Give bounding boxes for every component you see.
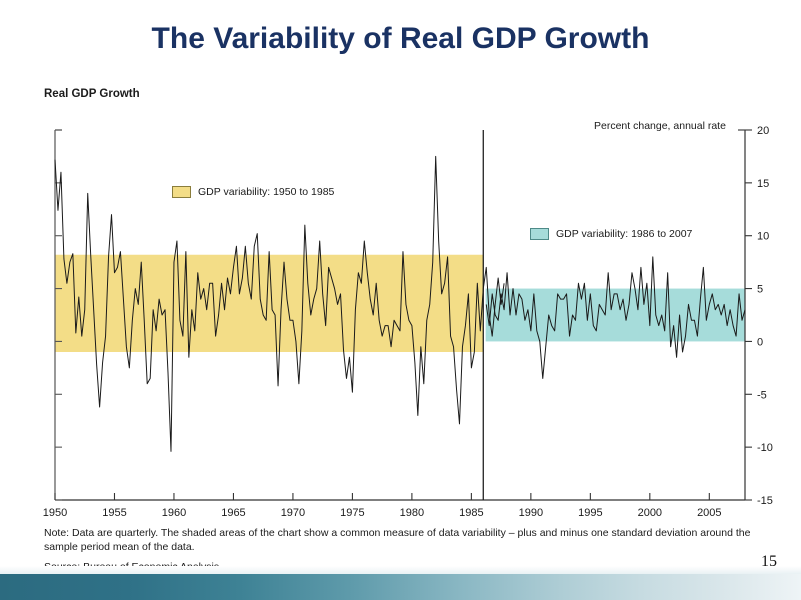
gdp-growth-chart: -15-10-505101520195019551960196519701975… bbox=[0, 105, 801, 525]
legend-label-1986-2007: GDP variability: 1986 to 2007 bbox=[556, 228, 692, 240]
legend-item-1950-1985: GDP variability: 1950 to 1985 bbox=[172, 186, 334, 198]
y-axis-tick-label: 20 bbox=[757, 125, 769, 137]
x-axis-tick-label: 1995 bbox=[578, 507, 602, 519]
y-axis-tick-label: 10 bbox=[757, 231, 769, 243]
chart-note: Note: Data are quarterly. The shaded are… bbox=[44, 527, 764, 555]
legend-item-1986-2007: GDP variability: 1986 to 2007 bbox=[530, 228, 692, 240]
x-axis-tick-label: 1965 bbox=[221, 507, 245, 519]
x-axis-tick-label: 1975 bbox=[340, 507, 364, 519]
x-axis-tick-label: 1950 bbox=[43, 507, 67, 519]
slide: The Variability of Real GDP Growth Real … bbox=[0, 0, 801, 600]
x-axis-tick-label: 1990 bbox=[519, 507, 543, 519]
chart-svg: -15-10-505101520195019551960196519701975… bbox=[0, 105, 801, 525]
legend-swatch-yellow bbox=[172, 186, 191, 198]
variability-band-1 bbox=[55, 255, 483, 352]
y-axis-tick-label: 0 bbox=[757, 336, 763, 348]
x-axis-tick-label: 1970 bbox=[281, 507, 305, 519]
footer-decoration-bar bbox=[0, 574, 801, 600]
y-axis-tick-label: -5 bbox=[757, 389, 767, 401]
y-axis-tick-label: 15 bbox=[757, 178, 769, 190]
chart-subtitle: Real GDP Growth bbox=[44, 88, 140, 100]
x-axis-tick-label: 1985 bbox=[459, 507, 483, 519]
footer-bar-highlight bbox=[0, 566, 801, 574]
x-axis-tick-label: 2000 bbox=[638, 507, 662, 519]
page-title: The Variability of Real GDP Growth bbox=[0, 22, 801, 56]
y-axis-tick-label: -15 bbox=[757, 495, 773, 507]
x-axis-tick-label: 1980 bbox=[400, 507, 424, 519]
legend-label-1950-1985: GDP variability: 1950 to 1985 bbox=[198, 186, 334, 198]
x-axis-tick-label: 2005 bbox=[697, 507, 721, 519]
legend-swatch-cyan bbox=[530, 228, 549, 240]
y-axis-tick-label: -10 bbox=[757, 442, 773, 454]
x-axis-tick-label: 1955 bbox=[102, 507, 126, 519]
x-axis-tick-label: 1960 bbox=[162, 507, 186, 519]
y-axis-tick-label: 5 bbox=[757, 284, 763, 296]
